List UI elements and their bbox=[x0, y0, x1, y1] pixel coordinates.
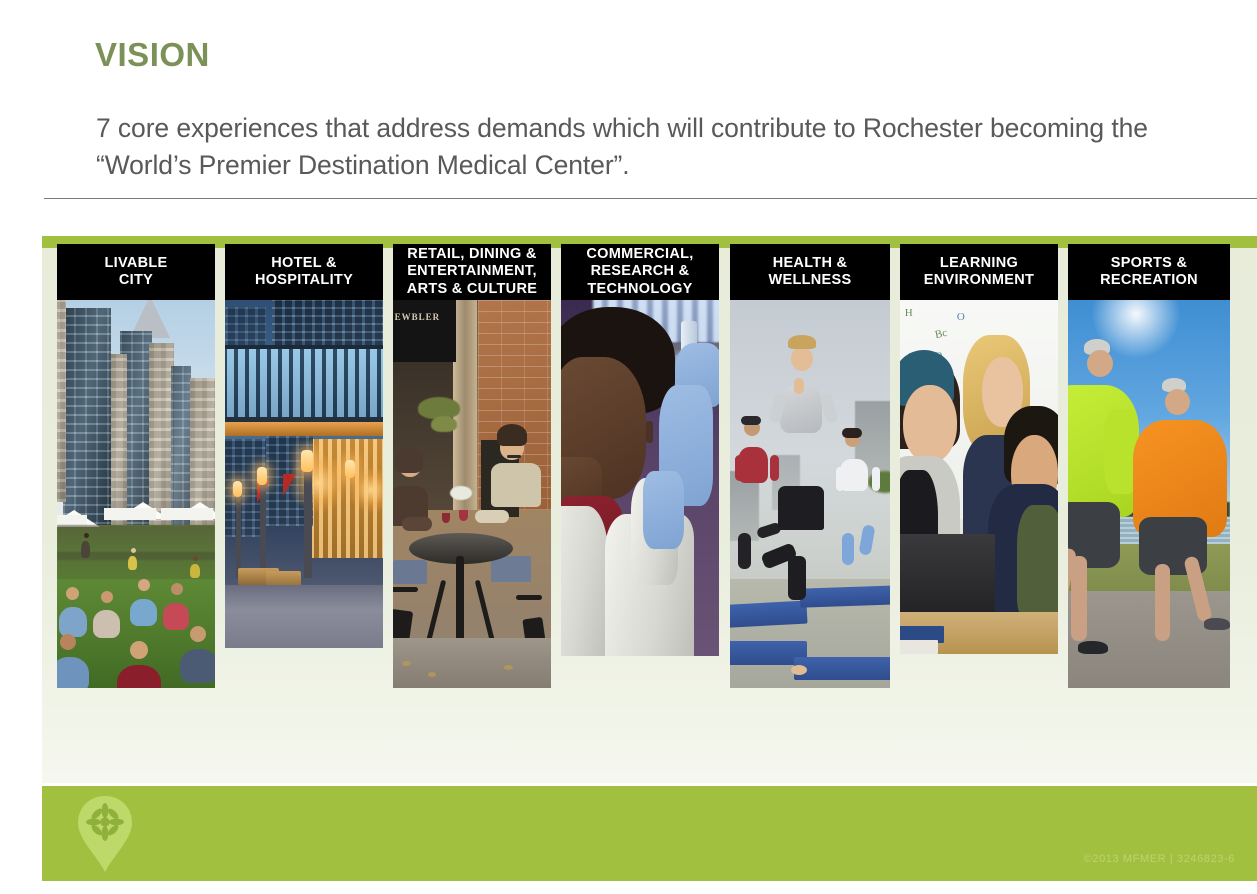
column-header-line: LIVABLE bbox=[104, 255, 167, 273]
experience-column-learning-environment[interactable]: LEARNING ENVIRONMENT + RH₂O Bc H O bbox=[900, 244, 1058, 654]
title-divider bbox=[44, 198, 1257, 199]
experience-column-livable-city[interactable]: LIVABLE CITY bbox=[57, 244, 215, 688]
column-header-line: CITY bbox=[104, 272, 167, 290]
column-header-line: LEARNING bbox=[924, 255, 1034, 273]
column-header-hotel-hospitality: HOTEL & HOSPITALITY bbox=[225, 244, 383, 300]
mayo-clinic-destination-pin-logo bbox=[68, 794, 142, 874]
column-header-retail-dining: RETAIL, DINING & ENTERTAINMENT, ARTS & C… bbox=[393, 244, 551, 300]
column-header-line: COMMERCIAL, bbox=[586, 246, 693, 264]
whiteboard-note: H bbox=[905, 307, 913, 319]
column-header-livable-city: LIVABLE CITY bbox=[57, 244, 215, 300]
column-header-line: RESEARCH & bbox=[586, 263, 693, 281]
column-header-line: HEALTH & bbox=[769, 255, 852, 273]
column-image-livable-city bbox=[57, 300, 215, 688]
whiteboard-note: O bbox=[957, 311, 965, 323]
column-header-line: RETAIL, DINING & bbox=[407, 246, 537, 264]
column-header-line: ENVIRONMENT bbox=[924, 272, 1034, 290]
experiences-panel: LIVABLE CITY bbox=[42, 236, 1257, 783]
column-image-health-wellness bbox=[730, 300, 890, 688]
experience-column-sports-recreation[interactable]: SPORTS & RECREATION bbox=[1068, 244, 1230, 688]
column-image-commercial-research bbox=[561, 300, 719, 656]
column-header-sports-recreation: SPORTS & RECREATION bbox=[1068, 244, 1230, 300]
copyright-notice: ©2013 MFMER | 3246823-6 bbox=[1084, 853, 1235, 865]
slide-footer: ©2013 MFMER | 3246823-6 bbox=[42, 786, 1257, 881]
column-header-line: SPORTS & bbox=[1100, 255, 1198, 273]
experience-columns: LIVABLE CITY bbox=[42, 244, 1257, 696]
experience-column-commercial-research[interactable]: COMMERCIAL, RESEARCH & TECHNOLOGY bbox=[561, 244, 719, 656]
column-header-line: HOTEL & bbox=[255, 255, 353, 273]
slide-canvas: VISION 7 core experiences that address d… bbox=[0, 0, 1257, 894]
page-title: VISION bbox=[95, 36, 210, 74]
cafe-sign-text: EWBLER bbox=[395, 312, 441, 322]
column-header-line: ARTS & CULTURE bbox=[407, 281, 537, 299]
experience-column-retail-dining[interactable]: RETAIL, DINING & ENTERTAINMENT, ARTS & C… bbox=[393, 244, 551, 688]
experience-column-health-wellness[interactable]: HEALTH & WELLNESS bbox=[730, 244, 890, 688]
column-header-line: HOSPITALITY bbox=[255, 272, 353, 290]
column-image-retail-dining: EWBLER bbox=[393, 300, 551, 688]
column-header-health-wellness: HEALTH & WELLNESS bbox=[730, 244, 890, 300]
column-image-hotel-hospitality bbox=[225, 300, 383, 648]
experience-column-hotel-hospitality[interactable]: HOTEL & HOSPITALITY bbox=[225, 244, 383, 648]
column-header-line: ENTERTAINMENT, bbox=[407, 263, 537, 281]
column-header-commercial-research: COMMERCIAL, RESEARCH & TECHNOLOGY bbox=[561, 244, 719, 300]
column-header-line: TECHNOLOGY bbox=[586, 281, 693, 299]
column-image-sports-recreation bbox=[1068, 300, 1230, 688]
page-subtitle: 7 core experiences that address demands … bbox=[96, 110, 1231, 184]
column-header-line: WELLNESS bbox=[769, 272, 852, 290]
column-image-learning-environment: + RH₂O Bc H O bbox=[900, 300, 1058, 654]
column-header-learning-environment: LEARNING ENVIRONMENT bbox=[900, 244, 1058, 300]
column-header-line: RECREATION bbox=[1100, 272, 1198, 290]
